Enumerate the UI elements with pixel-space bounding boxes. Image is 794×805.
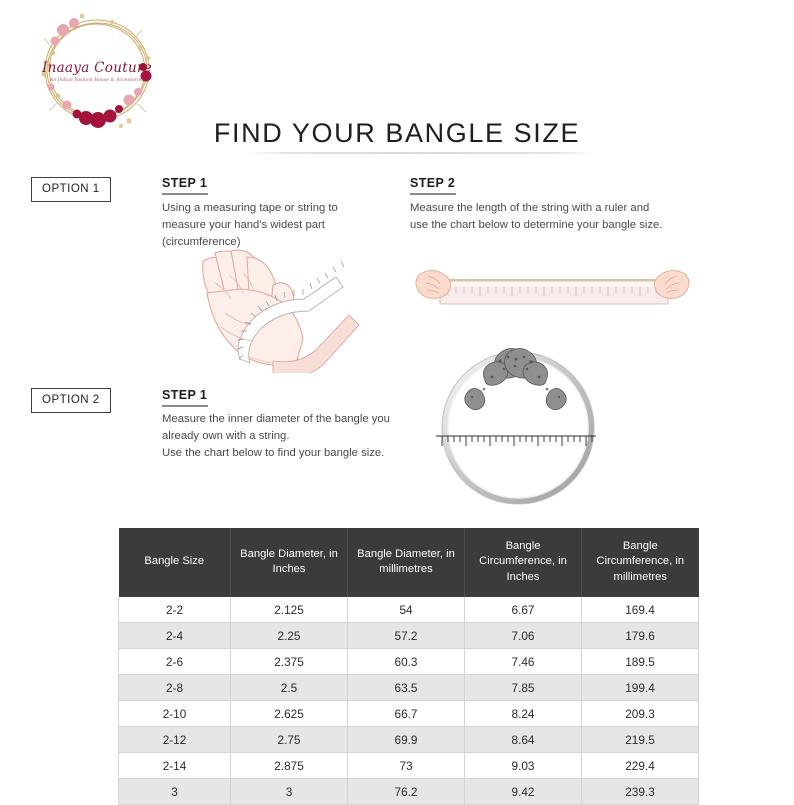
table-cell: 9.42 (465, 779, 582, 805)
option2-step1-body: Measure the inner diameter of the bangle… (162, 411, 407, 462)
option1-step2-heading: STEP 2 (410, 176, 456, 195)
table-cell: 76.2 (348, 779, 465, 805)
table-cell: 199.4 (582, 675, 699, 701)
table-cell: 63.5 (348, 675, 465, 701)
option-badge-2: OPTION 2 (31, 388, 111, 413)
column-header-circumference-mm: Bangle Circumference, in millimetres (582, 528, 699, 597)
table-row: 2-122.7569.98.64219.5 (119, 727, 699, 753)
table-cell: 179.6 (582, 623, 699, 649)
table-header-row: Bangle Size Bangle Diameter, in Inches B… (119, 528, 699, 597)
table-row: 2-102.62566.78.24209.3 (119, 701, 699, 727)
table-cell: 57.2 (348, 623, 465, 649)
table-row: 2-22.125546.67169.4 (119, 597, 699, 623)
table-cell: 7.46 (465, 649, 582, 675)
table-cell: 2-14 (119, 753, 231, 779)
table-cell: 2-8 (119, 675, 231, 701)
table-cell: 8.24 (465, 701, 582, 727)
column-header-bangle-size: Bangle Size (119, 528, 231, 597)
page-title: FIND YOUR BANGLE SIZE (0, 118, 794, 149)
hands-holding-string-on-ruler-illustration (410, 252, 695, 330)
brand-logo: Inaaya Couture An Indian Fashion House &… (22, 8, 172, 133)
table-cell: 66.7 (348, 701, 465, 727)
table-cell: 2.75 (231, 727, 348, 753)
table-cell: 69.9 (348, 727, 465, 753)
table-cell: 54 (348, 597, 465, 623)
table-cell: 2.875 (231, 753, 348, 779)
table-row: 2-42.2557.27.06179.6 (119, 623, 699, 649)
table-cell: 7.06 (465, 623, 582, 649)
table-row: 2-82.563.57.85199.4 (119, 675, 699, 701)
table-cell: 2-12 (119, 727, 231, 753)
table-cell: 189.5 (582, 649, 699, 675)
bangle-size-table: Bangle Size Bangle Diameter, in Inches B… (118, 528, 699, 805)
table-cell: 2-6 (119, 649, 231, 675)
option-badge-1: OPTION 1 (31, 177, 111, 202)
table-cell: 2.125 (231, 597, 348, 623)
table-cell: 2-10 (119, 701, 231, 727)
table-cell: 2.625 (231, 701, 348, 727)
brand-tagline: An Indian Fashion House & Accessories (22, 77, 172, 82)
table-cell: 219.5 (582, 727, 699, 753)
table-cell: 2-4 (119, 623, 231, 649)
table-cell: 239.3 (582, 779, 699, 805)
table-cell: 2-2 (119, 597, 231, 623)
table-cell: 2.5 (231, 675, 348, 701)
table-cell: 6.67 (465, 597, 582, 623)
silver-bangle-with-ruler-illustration (428, 333, 603, 515)
option2-step1-heading: STEP 1 (162, 388, 208, 407)
hand-with-measuring-tape-illustration (185, 243, 360, 373)
table-cell: 9.03 (465, 753, 582, 779)
table-cell: 169.4 (582, 597, 699, 623)
table-cell: 2.25 (231, 623, 348, 649)
table-row: 2-142.875739.03229.4 (119, 753, 699, 779)
table-cell: 2.375 (231, 649, 348, 675)
option1-step1-heading: STEP 1 (162, 176, 208, 195)
table-cell: 73 (348, 753, 465, 779)
table-row: 3376.29.42239.3 (119, 779, 699, 805)
table-cell: 3 (119, 779, 231, 805)
column-header-circumference-inches: Bangle Circumference, in Inches (465, 528, 582, 597)
title-divider (246, 152, 596, 154)
table-cell: 60.3 (348, 649, 465, 675)
column-header-diameter-millimetres: Bangle Diameter, in millimetres (348, 528, 465, 597)
table-row: 2-62.37560.37.46189.5 (119, 649, 699, 675)
table-cell: 7.85 (465, 675, 582, 701)
option1-step2-body: Measure the length of the string with a … (410, 200, 670, 234)
table-cell: 209.3 (582, 701, 699, 727)
table-cell: 8.64 (465, 727, 582, 753)
brand-name: Inaaya Couture (22, 60, 172, 76)
table-cell: 3 (231, 779, 348, 805)
column-header-diameter-inches: Bangle Diameter, in Inches (231, 528, 348, 597)
table-cell: 229.4 (582, 753, 699, 779)
